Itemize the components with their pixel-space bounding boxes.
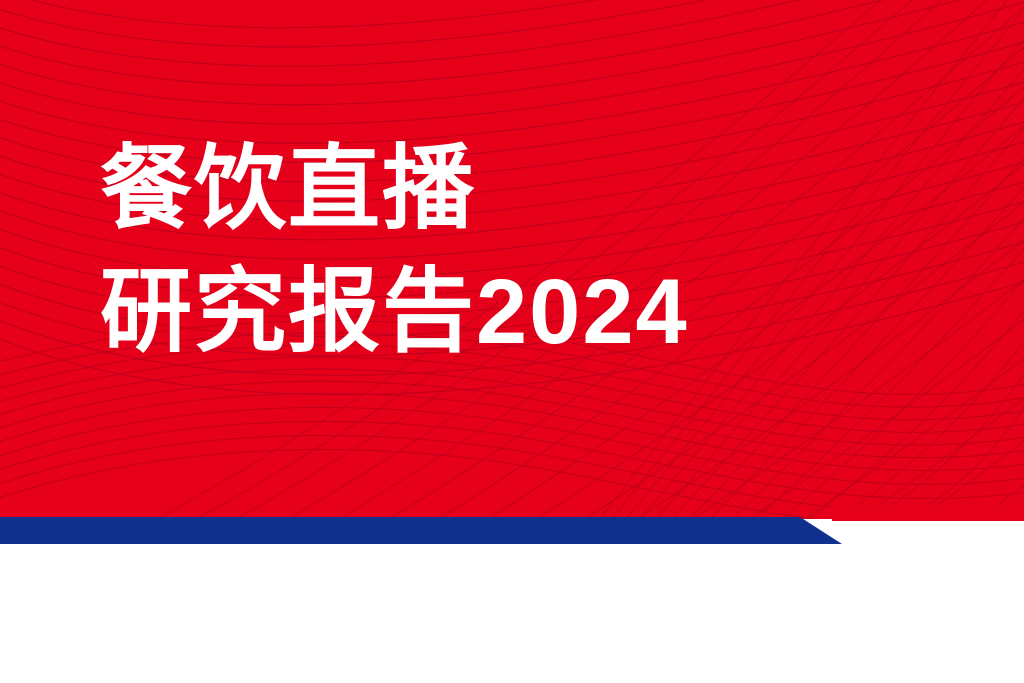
hero-right-extension — [832, 505, 1024, 521]
report-cover-slide: 餐饮直播 研究报告2024 红餐 产业研究院 2024年8月 — [0, 0, 1024, 683]
blue-divider-bar — [0, 517, 860, 544]
hero-banner: 餐饮直播 研究报告2024 — [0, 0, 1024, 519]
footer: 红餐 产业研究院 2024年8月 — [0, 544, 1024, 683]
cover-title-line-2: 研究报告2024 — [100, 251, 860, 374]
cover-title-line-1: 餐饮直播 — [100, 128, 860, 251]
cover-title: 餐饮直播 研究报告2024 — [100, 128, 860, 374]
